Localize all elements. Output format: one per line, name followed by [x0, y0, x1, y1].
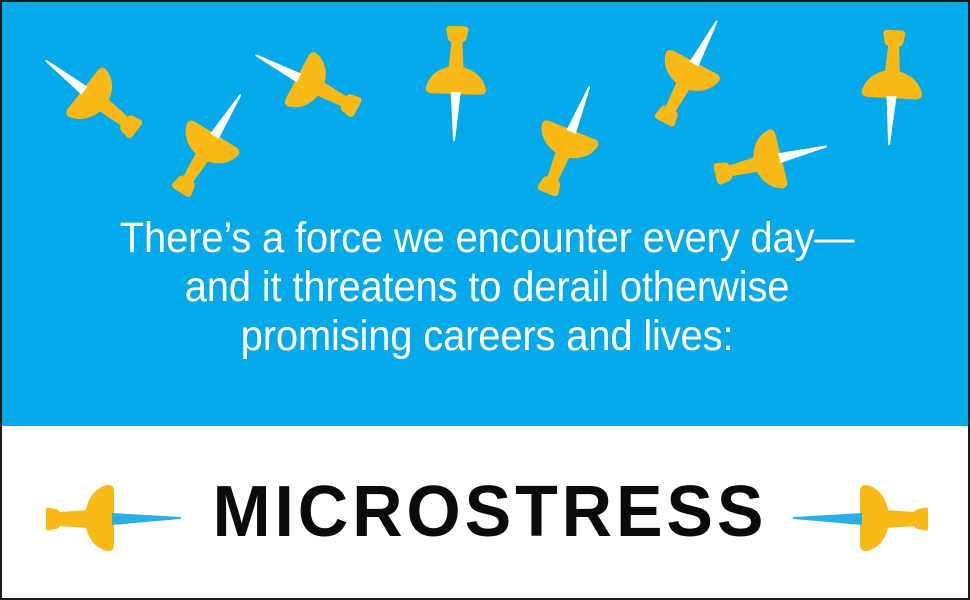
microstress-banner: There’s a force we encounter every day— …: [0, 0, 970, 600]
pushpin-icon-8: [847, 26, 933, 150]
pushpin-icon-4: [412, 23, 496, 146]
headline-block: There’s a force we encounter every day— …: [2, 214, 970, 361]
pushpin-icon-5: [510, 69, 629, 210]
pushpin-icon-7: [704, 109, 840, 216]
pushpin-icon-right: [790, 482, 930, 554]
pushpin-icon-6: [629, 2, 756, 144]
blue-panel: There’s a force we encounter every day— …: [2, 2, 970, 426]
wordmark-row: MICROSTRESS: [2, 426, 970, 598]
white-panel: MICROSTRESS: [2, 426, 970, 598]
headline-line-3: promising careers and lives:: [36, 312, 938, 361]
scattered-pushpin-field: [2, 2, 970, 202]
pushpin-icon-1: [20, 26, 164, 163]
headline-line-1: There’s a force we encounter every day—: [36, 214, 938, 263]
headline-line-2: and it threatens to derail otherwise: [36, 263, 938, 312]
